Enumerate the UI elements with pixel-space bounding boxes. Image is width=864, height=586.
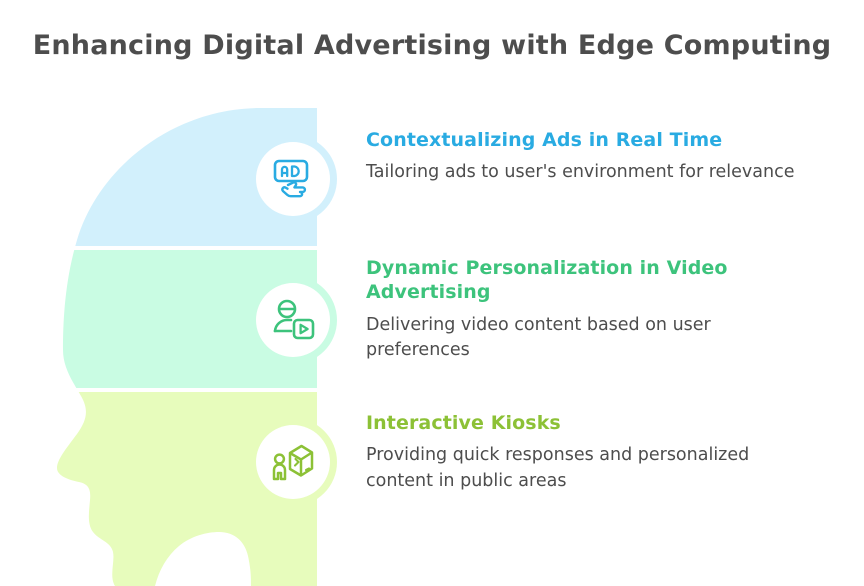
person-kiosk-box-icon [269, 438, 317, 486]
topic-heading-3: Interactive Kiosks [366, 411, 811, 435]
user-video-play-icon [269, 296, 317, 344]
topic-icon-badge-3[interactable] [256, 425, 330, 499]
topic-body-1: Tailoring ads to user's environment for … [366, 160, 821, 185]
topic-icon-badge-2[interactable] [256, 283, 330, 357]
page-title: Enhancing Digital Advertising with Edge … [0, 30, 864, 62]
topic-body-3: Providing quick responses and personaliz… [366, 443, 811, 494]
topic-block-3: Interactive Kiosks Providing quick respo… [366, 411, 811, 494]
topic-heading-1: Contextualizing Ads in Real Time [366, 128, 821, 152]
topic-block-1: Contextualizing Ads in Real Time Tailori… [366, 128, 821, 186]
topic-heading-2: Dynamic Personalization in Video Adverti… [366, 256, 791, 305]
topic-body-2: Delivering video content based on user p… [366, 313, 791, 364]
ad-banner-click-icon [269, 155, 317, 203]
topic-block-2: Dynamic Personalization in Video Adverti… [366, 256, 791, 363]
infographic-canvas: Enhancing Digital Advertising with Edge … [0, 0, 864, 586]
topic-icon-badge-1[interactable] [256, 142, 330, 216]
